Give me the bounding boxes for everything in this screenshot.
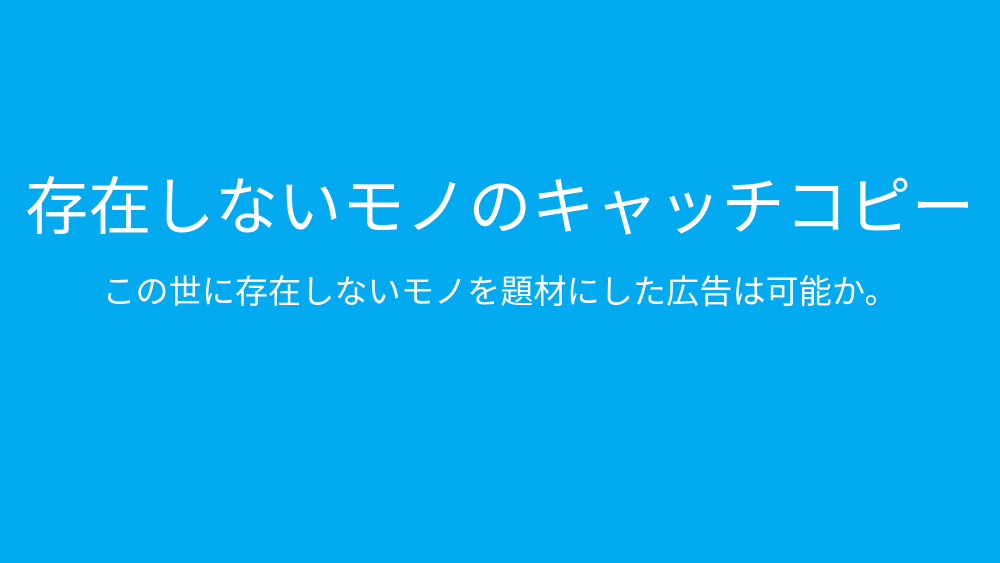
slide-title: 存在しないモノのキャッチコピー <box>0 176 1000 239</box>
title-slide: 存在しないモノのキャッチコピー この世に存在しないモノを題材にした広告は可能か。 <box>0 0 1000 563</box>
slide-subtitle: この世に存在しないモノを題材にした広告は可能か。 <box>0 239 1000 308</box>
slide-text-block: 存在しないモノのキャッチコピー この世に存在しないモノを題材にした広告は可能か。 <box>0 0 1000 308</box>
